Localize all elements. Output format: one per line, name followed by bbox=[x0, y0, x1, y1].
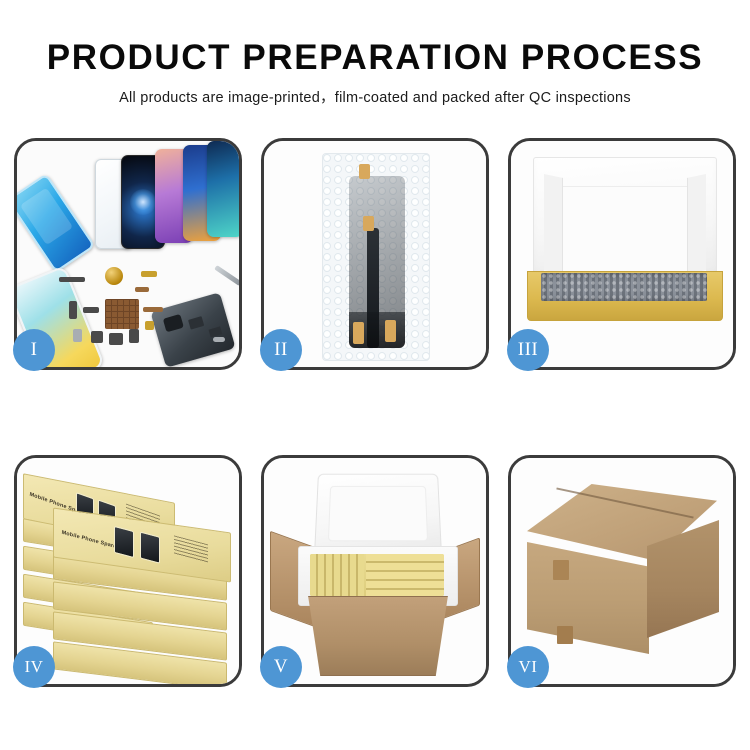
step-badge-5: V bbox=[260, 646, 302, 688]
step-3-image bbox=[511, 141, 733, 367]
step-badge-3: III bbox=[507, 329, 549, 371]
spare-part-sim-tray bbox=[73, 329, 82, 342]
spare-part-copper-flex bbox=[135, 287, 149, 292]
step-6-image bbox=[511, 458, 733, 684]
step-badge-2: II bbox=[260, 329, 302, 371]
shipping-carton-front-face bbox=[527, 542, 649, 654]
box-foam-lid bbox=[533, 157, 717, 281]
process-step-panel-1: I bbox=[14, 138, 242, 370]
step-badge-6: VI bbox=[507, 646, 549, 688]
page-header: PRODUCT PREPARATION PROCESS All products… bbox=[0, 0, 750, 108]
carton-tape-upper bbox=[553, 560, 569, 580]
spare-part-ribbon-cable bbox=[143, 307, 163, 312]
process-step-panel-5: V bbox=[261, 455, 489, 687]
spare-part-connector bbox=[129, 329, 139, 343]
lid-flap-left bbox=[544, 174, 563, 274]
tape-marker-lower-right bbox=[385, 320, 396, 342]
step-4-image: Mobile Phone Spare Parts Mobile Phone Sp… bbox=[17, 458, 239, 684]
process-step-panel-6: VI bbox=[508, 455, 736, 687]
process-step-panel-3: III bbox=[508, 138, 736, 370]
spare-part-bracket bbox=[83, 307, 99, 313]
step-badge-1: I bbox=[13, 329, 55, 371]
process-step-panel-4: Mobile Phone Spare Parts Mobile Phone Sp… bbox=[14, 455, 242, 687]
step-badge-4: IV bbox=[13, 646, 55, 688]
screwdriver-tool bbox=[214, 265, 239, 286]
tape-marker-top bbox=[359, 164, 370, 179]
phone-back-housing bbox=[150, 292, 235, 367]
spare-part-strip bbox=[59, 277, 85, 282]
lid-flap-right bbox=[687, 174, 706, 274]
vibration-motor-part bbox=[105, 267, 123, 285]
box-art-phone-front-1 bbox=[114, 526, 134, 558]
page-subtitle: All products are image-printed，film-coat… bbox=[0, 88, 750, 108]
process-step-panel-2: II bbox=[261, 138, 489, 370]
page-title: PRODUCT PREPARATION PROCESS bbox=[0, 38, 750, 78]
spare-part-speaker bbox=[91, 331, 103, 343]
step-1-image bbox=[17, 141, 239, 367]
tape-marker-middle bbox=[363, 216, 374, 231]
tape-marker-lower-left bbox=[353, 322, 364, 344]
phone-blue-adhesive-film bbox=[17, 173, 96, 273]
spare-part-screws bbox=[213, 337, 225, 342]
box-art-phone-front-2 bbox=[140, 531, 160, 563]
process-steps-grid: I II III bbox=[14, 138, 736, 687]
foam-box-contents-boxes bbox=[310, 554, 444, 596]
spare-part-button bbox=[69, 301, 77, 319]
carton-body bbox=[302, 596, 454, 676]
chip-board-part bbox=[105, 299, 139, 329]
box-text-lines-front bbox=[174, 535, 208, 564]
box-bubble-contents bbox=[541, 273, 707, 301]
foam-box-lid bbox=[314, 474, 442, 557]
step-2-image bbox=[264, 141, 486, 367]
bubble-wrap-bag bbox=[322, 153, 430, 361]
phone-teal-wave bbox=[207, 141, 239, 237]
spare-part-gold-chip bbox=[145, 321, 154, 330]
spare-part-camera-module bbox=[109, 333, 123, 345]
step-5-image bbox=[264, 458, 486, 684]
spare-part-gold-flex bbox=[141, 271, 157, 277]
carton-tape-lower bbox=[557, 626, 573, 644]
retail-box-stack: Mobile Phone Spare Parts Mobile Phone Sp… bbox=[17, 458, 239, 684]
